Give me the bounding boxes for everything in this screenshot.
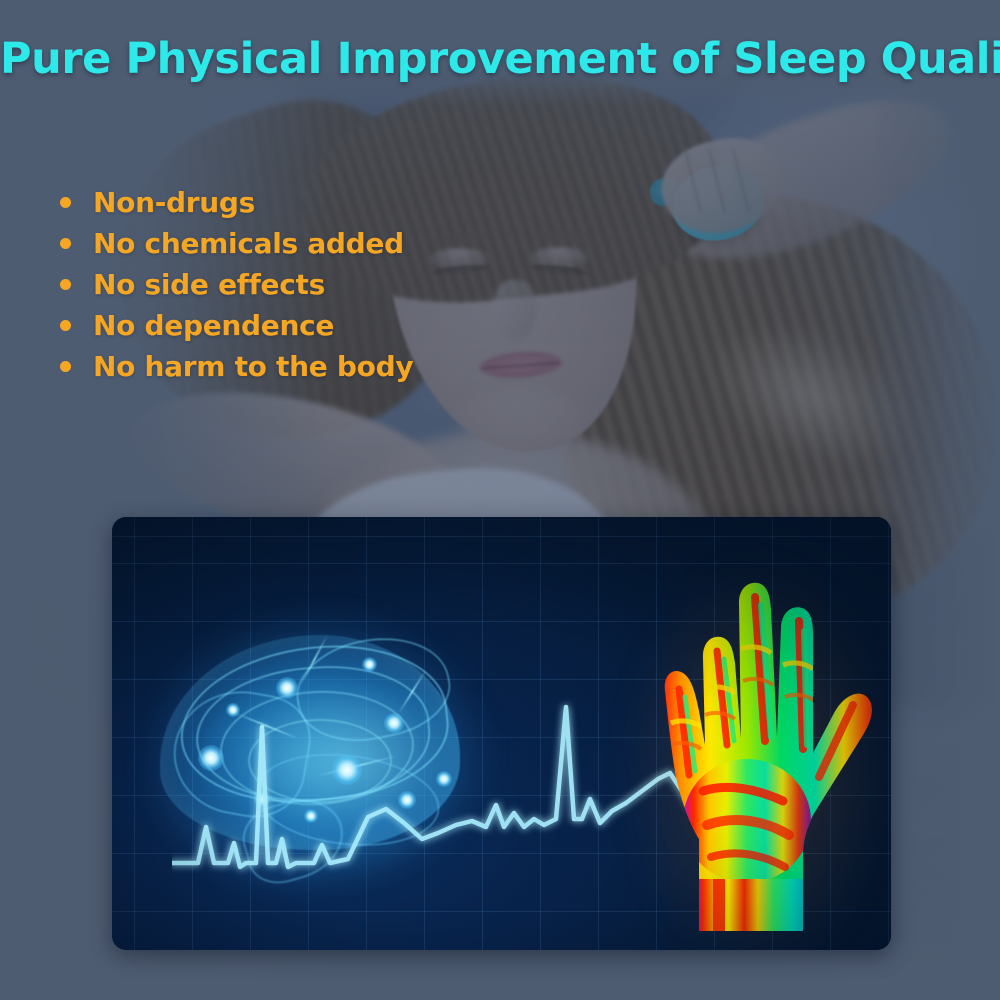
neuron-node [276,677,298,699]
benefits-list: Non-drugs No chemicals added No side eff… [52,182,482,387]
neuron-node [254,791,270,807]
bullet-dot-icon [60,320,71,331]
neuron-node [362,657,377,672]
bullet-dot-icon [60,238,71,249]
bullet-dot-icon [60,197,71,208]
list-item-label: Non-drugs [93,186,255,219]
brain-illustration [136,595,496,895]
neuron-node [436,771,452,787]
promo-image-root: Pure Physical Improvement of Sleep Quali… [0,0,1000,1000]
neuron-node [332,755,362,785]
list-item: No side effects [52,264,482,305]
science-illustration-panel [112,517,891,950]
list-item: No dependence [52,305,482,346]
list-item: No harm to the body [52,346,482,387]
neuron-node [198,745,224,771]
list-item-label: No chemicals added [93,227,404,260]
page-title: Pure Physical Improvement of Sleep Quali… [0,34,1000,84]
neuron-node [398,791,416,809]
neuron-node [226,703,240,717]
list-item: No chemicals added [52,223,482,264]
bullet-dot-icon [60,279,71,290]
list-item-label: No dependence [93,309,334,342]
list-item-label: No side effects [93,268,325,301]
list-item-label: No harm to the body [93,350,413,383]
thermal-hand-image [607,539,891,950]
neuron-node [384,713,404,733]
neuron-node [304,809,318,823]
bullet-dot-icon [60,361,71,372]
thermal-hand-svg [607,539,891,950]
list-item: Non-drugs [52,182,482,223]
